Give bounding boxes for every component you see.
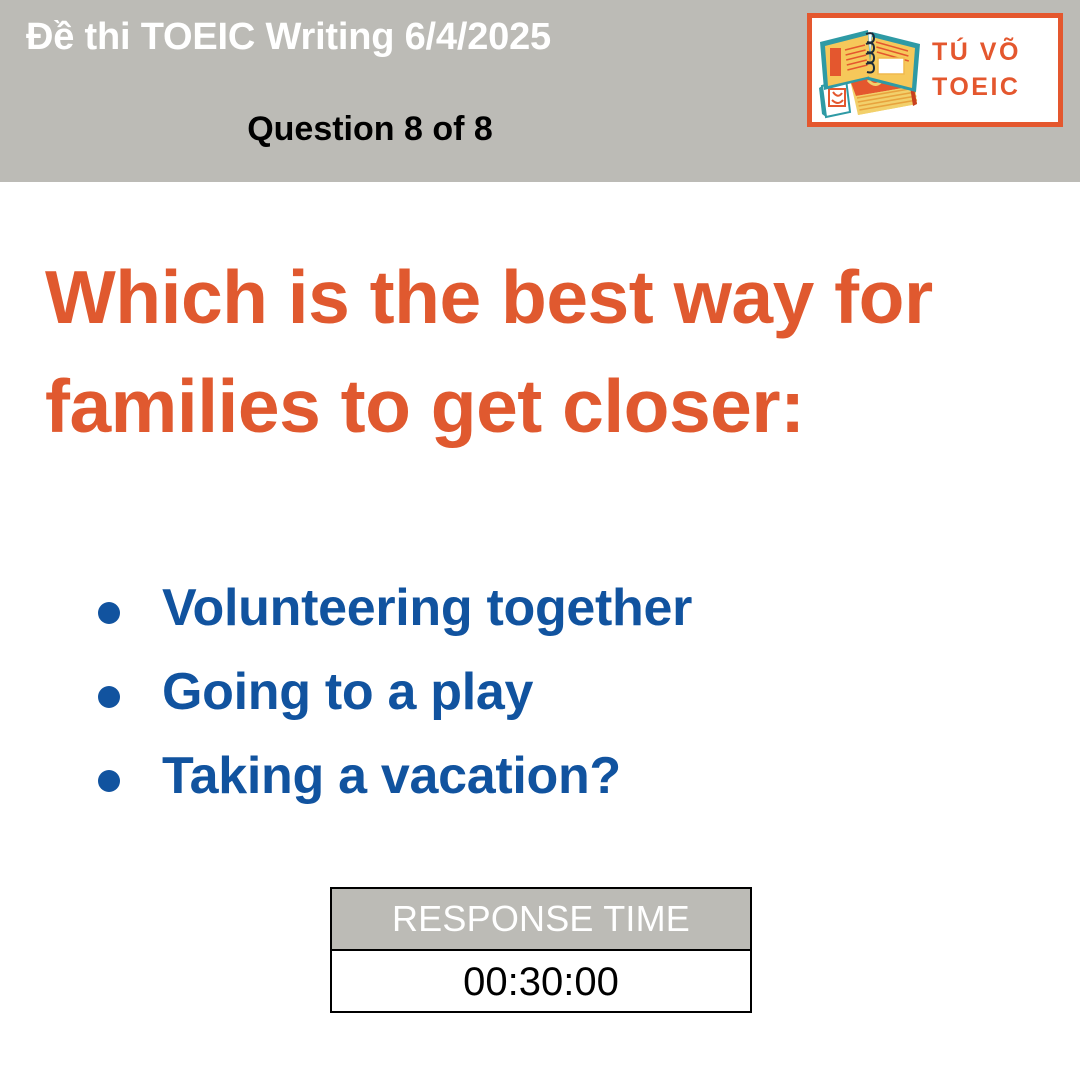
page-title: Đề thi TOEIC Writing 6/4/2025: [26, 16, 551, 59]
list-item: Taking a vacation?: [98, 748, 998, 810]
question-counter: Question 8 of 8: [0, 110, 910, 149]
question-prompt: Which is the best way for families to ge…: [45, 243, 965, 461]
answer-options-list: Volunteering together Going to a play Ta…: [98, 580, 998, 832]
brand-name-line-2: TOEIC: [932, 70, 1020, 106]
brand-name-line-1: TÚ VÕ: [932, 35, 1021, 71]
list-item: Going to a play: [98, 664, 998, 726]
option-label: Volunteering together: [162, 580, 692, 637]
bullet-icon: [98, 770, 120, 792]
option-label: Taking a vacation?: [162, 748, 621, 805]
response-time-value: 00:30:00: [332, 951, 750, 1013]
response-time-box: RESPONSE TIME 00:30:00: [330, 887, 752, 1013]
open-books-icon: [816, 20, 930, 120]
list-item: Volunteering together: [98, 580, 998, 642]
brand-wordmark: TÚ VÕ TOEIC: [930, 35, 1058, 106]
bullet-icon: [98, 602, 120, 624]
bullet-icon: [98, 686, 120, 708]
brand-logo: TÚ VÕ TOEIC: [807, 13, 1063, 127]
option-label: Going to a play: [162, 664, 533, 721]
response-time-label: RESPONSE TIME: [332, 889, 750, 951]
